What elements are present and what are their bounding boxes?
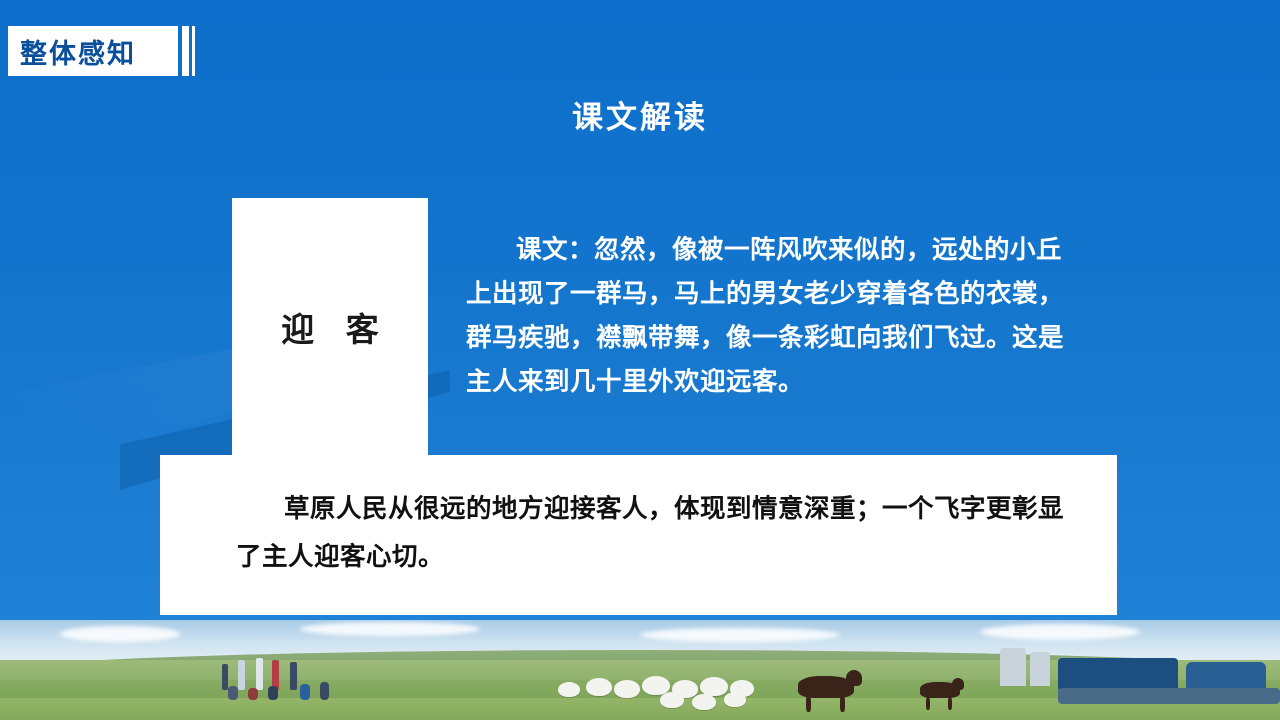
sheep-figure xyxy=(692,694,716,710)
shed-structure xyxy=(1058,688,1280,704)
note-box: 草原人民从很远的地方迎接客人，体现到情意深重；一个飞字更彰显了主人迎客心切。 xyxy=(160,455,1117,615)
person-figure xyxy=(320,682,329,700)
person-figure xyxy=(268,686,278,700)
sheep-figure xyxy=(660,692,684,708)
silo-structure xyxy=(1000,648,1026,686)
cloud-icon xyxy=(60,626,180,642)
person-figure xyxy=(290,662,297,690)
horse-figure xyxy=(806,694,811,712)
sheep-figure xyxy=(724,692,746,707)
note-text: 草原人民从很远的地方迎接客人，体现到情意深重；一个飞字更彰显了主人迎客心切。 xyxy=(236,485,1076,581)
sheep-figure xyxy=(614,680,640,698)
person-figure xyxy=(222,664,228,690)
horse-figure xyxy=(840,694,845,712)
section-tag-label: 整体感知 xyxy=(8,32,136,71)
person-figure xyxy=(228,686,238,700)
silo-structure xyxy=(1030,652,1050,686)
slide-title: 课文解读 xyxy=(0,92,1280,137)
cloud-icon xyxy=(300,622,480,636)
sheep-figure xyxy=(586,678,612,696)
slide-canvas: 整体感知 课文解读 迎 客 课文：忽然，像被一阵风吹来似的，远处的小丘上出现了一… xyxy=(0,0,1280,720)
cloud-icon xyxy=(980,624,1140,640)
horse-figure xyxy=(846,670,862,686)
passage-text: 课文：忽然，像被一阵风吹来似的，远处的小丘上出现了一群马，马上的男女老少穿着各色… xyxy=(466,228,1066,404)
cloud-icon xyxy=(640,628,840,642)
horse-figure xyxy=(926,696,930,710)
person-figure xyxy=(256,658,263,690)
section-tag: 整体感知 xyxy=(8,26,178,76)
grassland-photo xyxy=(0,620,1280,720)
keyword-card-label: 迎 客 xyxy=(271,303,389,351)
keyword-card: 迎 客 xyxy=(232,198,428,456)
person-figure xyxy=(238,660,245,690)
sheep-figure xyxy=(558,682,580,697)
section-tag-accent-bar-primary xyxy=(182,26,189,76)
person-figure xyxy=(248,688,258,700)
horse-figure xyxy=(952,678,964,690)
horse-figure xyxy=(948,696,952,710)
shed-structure xyxy=(1058,658,1178,692)
person-figure xyxy=(300,684,310,700)
section-tag-accent-bar-secondary xyxy=(192,26,195,76)
